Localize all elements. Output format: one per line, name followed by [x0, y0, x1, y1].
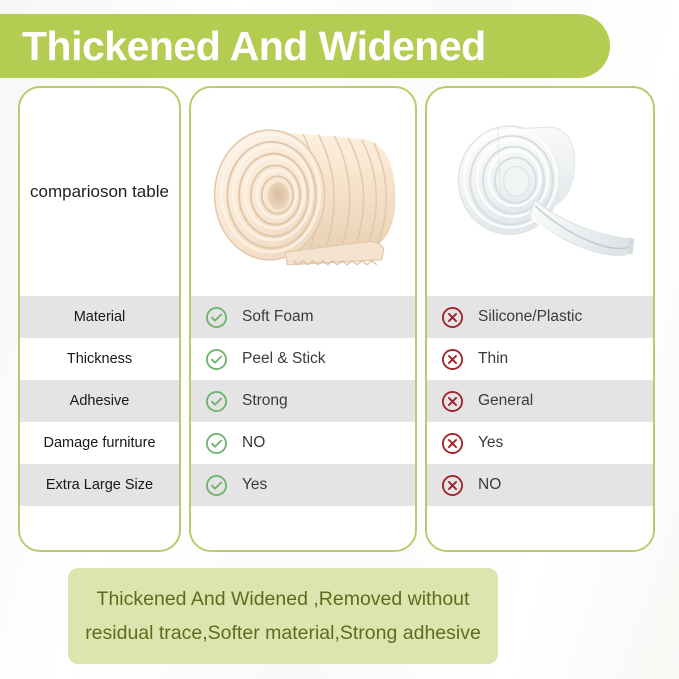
label-column-header: comparioson table	[20, 88, 179, 296]
cell-value: Soft Foam	[242, 308, 314, 326]
table-row: NO	[191, 422, 415, 464]
caption-line-2: residual trace,Softer material,Strong ad…	[85, 616, 481, 650]
table-row: Material	[20, 296, 179, 338]
caption-line-1: Thickened And Widened ,Removed without	[85, 582, 481, 616]
table-row: Damage furniture	[20, 422, 179, 464]
table-row: Strong	[191, 380, 415, 422]
cell-value: General	[478, 392, 533, 410]
table-row: Extra Large Size	[20, 464, 179, 506]
comparison-cards: comparioson table Material Thickness Adh…	[18, 86, 663, 552]
cross-circle-icon	[441, 306, 464, 329]
bottom-caption-box: Thickened And Widened ,Removed without r…	[68, 568, 498, 664]
table-row: Soft Foam	[191, 296, 415, 338]
check-circle-icon	[205, 348, 228, 371]
page-title: Thickened And Widened	[0, 26, 486, 67]
table-row: Silicone/Plastic	[427, 296, 653, 338]
comparison-column-silicone: Silicone/Plastic Thin General	[425, 86, 655, 552]
row-label: Thickness	[67, 351, 132, 367]
comparison-column-labels: comparioson table Material Thickness Adh…	[18, 86, 181, 552]
table-row: Thickness	[20, 338, 179, 380]
foam-value-rows: Soft Foam Peel & Stick Strong	[191, 296, 415, 506]
silicone-strip-image	[427, 88, 653, 296]
table-row: General	[427, 380, 653, 422]
cell-value: NO	[242, 434, 265, 452]
cell-value: Silicone/Plastic	[478, 308, 582, 326]
row-label: Material	[74, 309, 126, 325]
cell-value: NO	[478, 476, 501, 494]
row-label: Adhesive	[70, 393, 130, 409]
check-circle-icon	[205, 474, 228, 497]
check-circle-icon	[205, 390, 228, 413]
check-circle-icon	[205, 432, 228, 455]
label-column-footer-space	[20, 506, 179, 550]
cell-value: Thin	[478, 350, 508, 368]
comparison-column-foam: Soft Foam Peel & Stick Strong	[189, 86, 417, 552]
table-row: Adhesive	[20, 380, 179, 422]
check-circle-icon	[205, 306, 228, 329]
silicone-strip-illustration	[427, 88, 653, 296]
table-row: Thin	[427, 338, 653, 380]
silicone-value-rows: Silicone/Plastic Thin General	[427, 296, 653, 506]
cell-value: Peel & Stick	[242, 350, 326, 368]
row-label: Damage furniture	[43, 435, 155, 451]
table-row: Peel & Stick	[191, 338, 415, 380]
cross-circle-icon	[441, 390, 464, 413]
row-label: Extra Large Size	[46, 477, 153, 493]
cell-value: Yes	[242, 476, 267, 494]
cross-circle-icon	[441, 474, 464, 497]
comparison-table-title: comparioson table	[20, 181, 179, 204]
cross-circle-icon	[441, 432, 464, 455]
header-banner: Thickened And Widened	[0, 14, 610, 78]
table-row: Yes	[427, 422, 653, 464]
table-row: NO	[427, 464, 653, 506]
foam-roll-image	[191, 88, 415, 296]
foam-column-footer-space	[191, 506, 415, 550]
bottom-caption-text: Thickened And Widened ,Removed without r…	[85, 582, 481, 650]
foam-roll-illustration	[191, 88, 415, 296]
table-row: Yes	[191, 464, 415, 506]
silicone-column-footer-space	[427, 506, 653, 550]
cell-value: Strong	[242, 392, 288, 410]
cell-value: Yes	[478, 434, 503, 452]
cross-circle-icon	[441, 348, 464, 371]
label-rows: Material Thickness Adhesive Damage furni…	[20, 296, 179, 506]
